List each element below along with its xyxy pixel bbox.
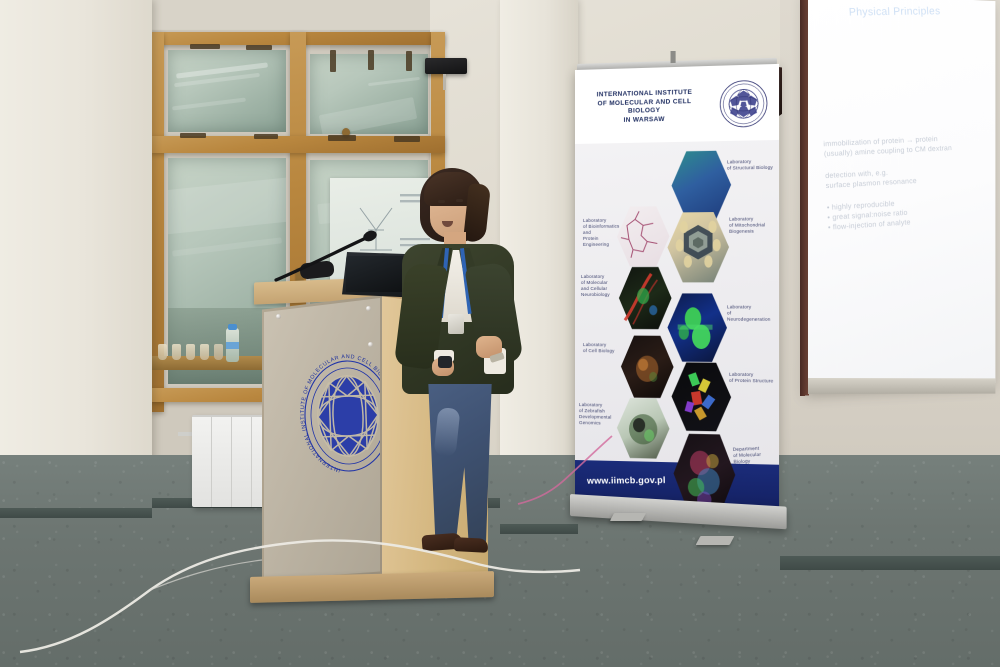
banner-lab-label: Laboratory of Cell Biology xyxy=(583,342,621,354)
lab-label-line: of Bioinformatics and xyxy=(583,224,623,236)
left-wall-pillar xyxy=(0,0,152,520)
hair-side xyxy=(463,183,491,243)
banner-image-neurobiology xyxy=(619,266,672,331)
lab-label-line: of Cell Biology xyxy=(583,348,621,354)
pink-cable xyxy=(500,430,620,520)
banner-image-protein-structure xyxy=(672,361,732,433)
presenter-remote[interactable] xyxy=(438,356,452,368)
window-pane-upper-left xyxy=(168,50,286,132)
banner-lab-label: Laboratory of Zebrafish Developmental Ge… xyxy=(579,402,617,427)
banner-body: Laboratory of Structural Biology xyxy=(575,140,779,465)
drinking-glass xyxy=(200,344,209,360)
eye xyxy=(438,200,445,203)
plate-screw xyxy=(366,306,371,311)
lab-label-line: Biogenesis xyxy=(729,228,775,235)
banner-image-bioinformatics xyxy=(617,205,670,268)
banner-hook xyxy=(671,51,676,63)
banner-image-cell-biology xyxy=(621,334,674,399)
projection-screen: Physical Principles immobilization of pr… xyxy=(808,0,995,392)
ceiling-projector xyxy=(425,58,467,74)
presentation-photo: Physical Principles immobilization of pr… xyxy=(0,0,1000,667)
banner-lab-label: Department of Molecular Biology xyxy=(733,445,780,466)
eye xyxy=(456,199,463,202)
banner-lab-label: Laboratory of Molecular and Cellular Neu… xyxy=(581,274,619,298)
drinking-glass xyxy=(186,344,195,360)
banner-header: INTERNATIONAL INSTITUTE OF MOLECULAR AND… xyxy=(575,64,779,144)
drinking-glass xyxy=(214,344,223,360)
projector-mount-stem xyxy=(443,74,446,90)
screen-bottom-bar xyxy=(808,378,995,394)
lab-label-line: of Protein Structure xyxy=(729,378,777,385)
banner-image-neurodegeneration xyxy=(667,292,727,363)
banner-image-mitochondrial xyxy=(667,210,729,284)
name-badge xyxy=(448,314,464,334)
banner-lab-label: Laboratory of Mitochondrial Biogenesis xyxy=(729,216,775,235)
lab-label-line: of Neurodegeneration xyxy=(727,310,775,322)
banner-lab-label: Laboratory of Bioinformatics and Protein… xyxy=(583,218,623,248)
lab-label-line: of Structural Biology xyxy=(727,165,775,172)
drinking-glass xyxy=(172,344,181,360)
plate-screw xyxy=(368,342,373,347)
banner-lab-label: Laboratory of Neurodegeneration xyxy=(727,304,775,323)
bottle-label xyxy=(226,342,239,349)
drinking-glass xyxy=(158,344,167,360)
banner-title: INTERNATIONAL INSTITUTE OF MOLECULAR AND… xyxy=(583,88,706,126)
iimcb-logo-icon xyxy=(719,79,769,129)
gooseneck-microphone xyxy=(270,218,390,288)
upper-wall-recess xyxy=(152,0,442,30)
banner-title-line: IN WARSAW xyxy=(583,115,706,127)
banner-lab-label: Laboratory of Protein Structure xyxy=(729,372,777,385)
bottle-cap xyxy=(228,324,237,330)
lab-label-line: Genomics xyxy=(579,420,617,427)
lab-label-line: Protein Engineering xyxy=(583,236,623,248)
plate-screw xyxy=(276,314,281,319)
slide-body: immobilization of protein → protein (usu… xyxy=(823,132,995,233)
lab-label-line: Neurobiology xyxy=(581,292,619,298)
baseboard-right xyxy=(780,556,1000,570)
banner-image-zebrafish xyxy=(617,397,670,461)
slide-title: Physical Principles xyxy=(849,5,941,18)
banner-lab-label: Laboratory of Structural Biology xyxy=(727,159,775,172)
banner-foot-pad xyxy=(696,536,735,545)
